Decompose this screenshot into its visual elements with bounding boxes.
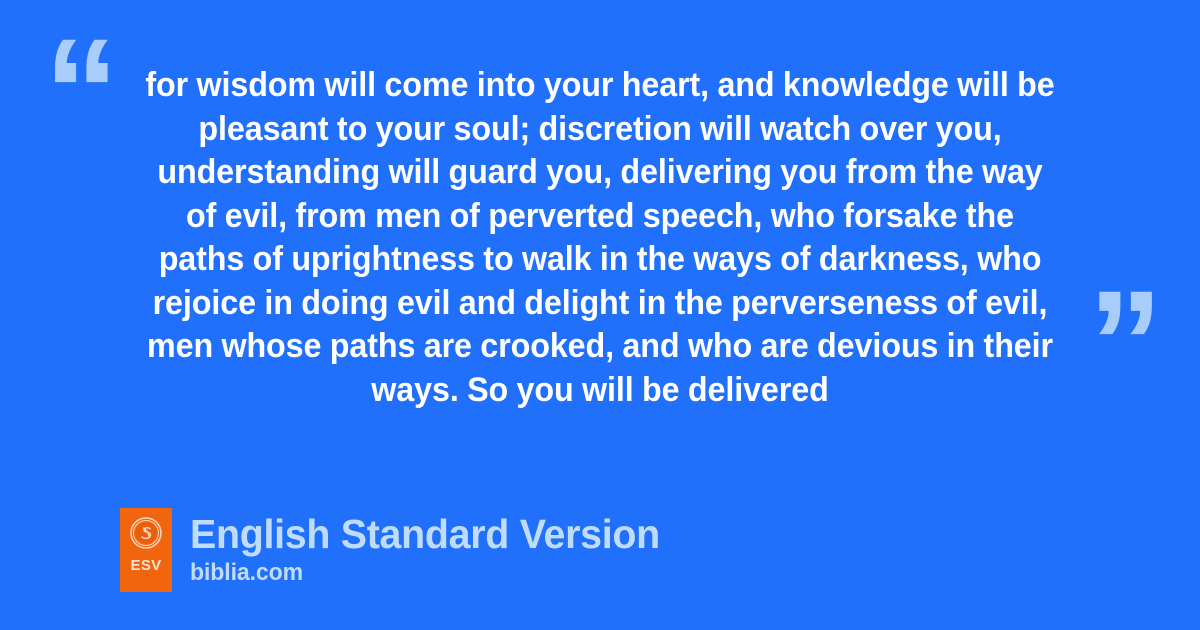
esv-logo-badge: ESV (120, 508, 172, 592)
closing-quote-icon: ” (1088, 268, 1159, 418)
quote-line: ways. So you will be delivered (142, 369, 1058, 413)
opening-quote-icon: “ (44, 16, 115, 166)
verse-quote-card: “ ” for wisdom will come into your heart… (0, 0, 1200, 630)
esv-seal-icon (130, 517, 162, 549)
quote-line: understanding will guard you, delivering… (142, 151, 1058, 195)
quote-line: for wisdom will come into your heart, an… (142, 64, 1058, 108)
attribution-text-block: English Standard Version biblia.com (190, 508, 679, 587)
quote-text: for wisdom will come into your heart, an… (142, 64, 1058, 412)
quote-line: of evil, from men of perverted speech, w… (142, 195, 1058, 239)
bible-version-title: English Standard Version (190, 510, 660, 558)
quote-line: men whose paths are crooked, and who are… (142, 325, 1058, 369)
quote-line: paths of uprightness to walk in the ways… (142, 238, 1058, 282)
quote-line: rejoice in doing evil and delight in the… (142, 282, 1058, 326)
attribution-footer: ESV English Standard Version biblia.com (120, 508, 679, 592)
source-website-label: biblia.com (190, 559, 303, 587)
esv-abbreviation-label: ESV (131, 558, 162, 573)
quote-line: pleasant to your soul; discretion will w… (142, 108, 1058, 152)
